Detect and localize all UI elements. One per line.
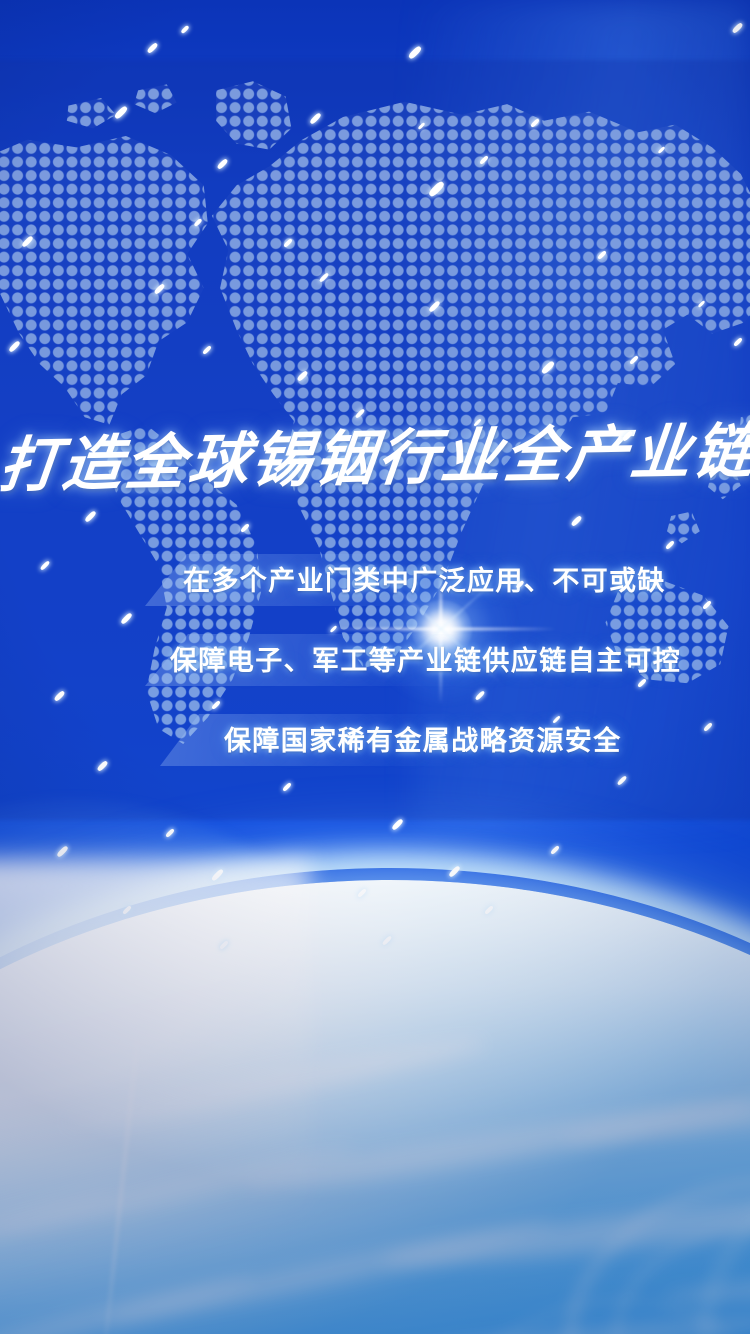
poster-subtitle-3: 保障国家稀有金属战略资源安全 <box>224 724 622 758</box>
poster-subtitle-2: 保障电子、军工等产业链供应链自主可控 <box>170 644 681 678</box>
poster-canvas: 打造全球锡铟行业全产业链链主 在多个产业门类中广泛应用、不可或缺 保障电子、军工… <box>0 0 750 1334</box>
lens-flare-diagonals <box>440 628 442 630</box>
poster-title: 打造全球锡铟行业全产业链链主 <box>0 417 750 501</box>
sun-light-column <box>0 860 310 1334</box>
poster-subtitle-1: 在多个产业门类中广泛应用、不可或缺 <box>183 564 666 598</box>
